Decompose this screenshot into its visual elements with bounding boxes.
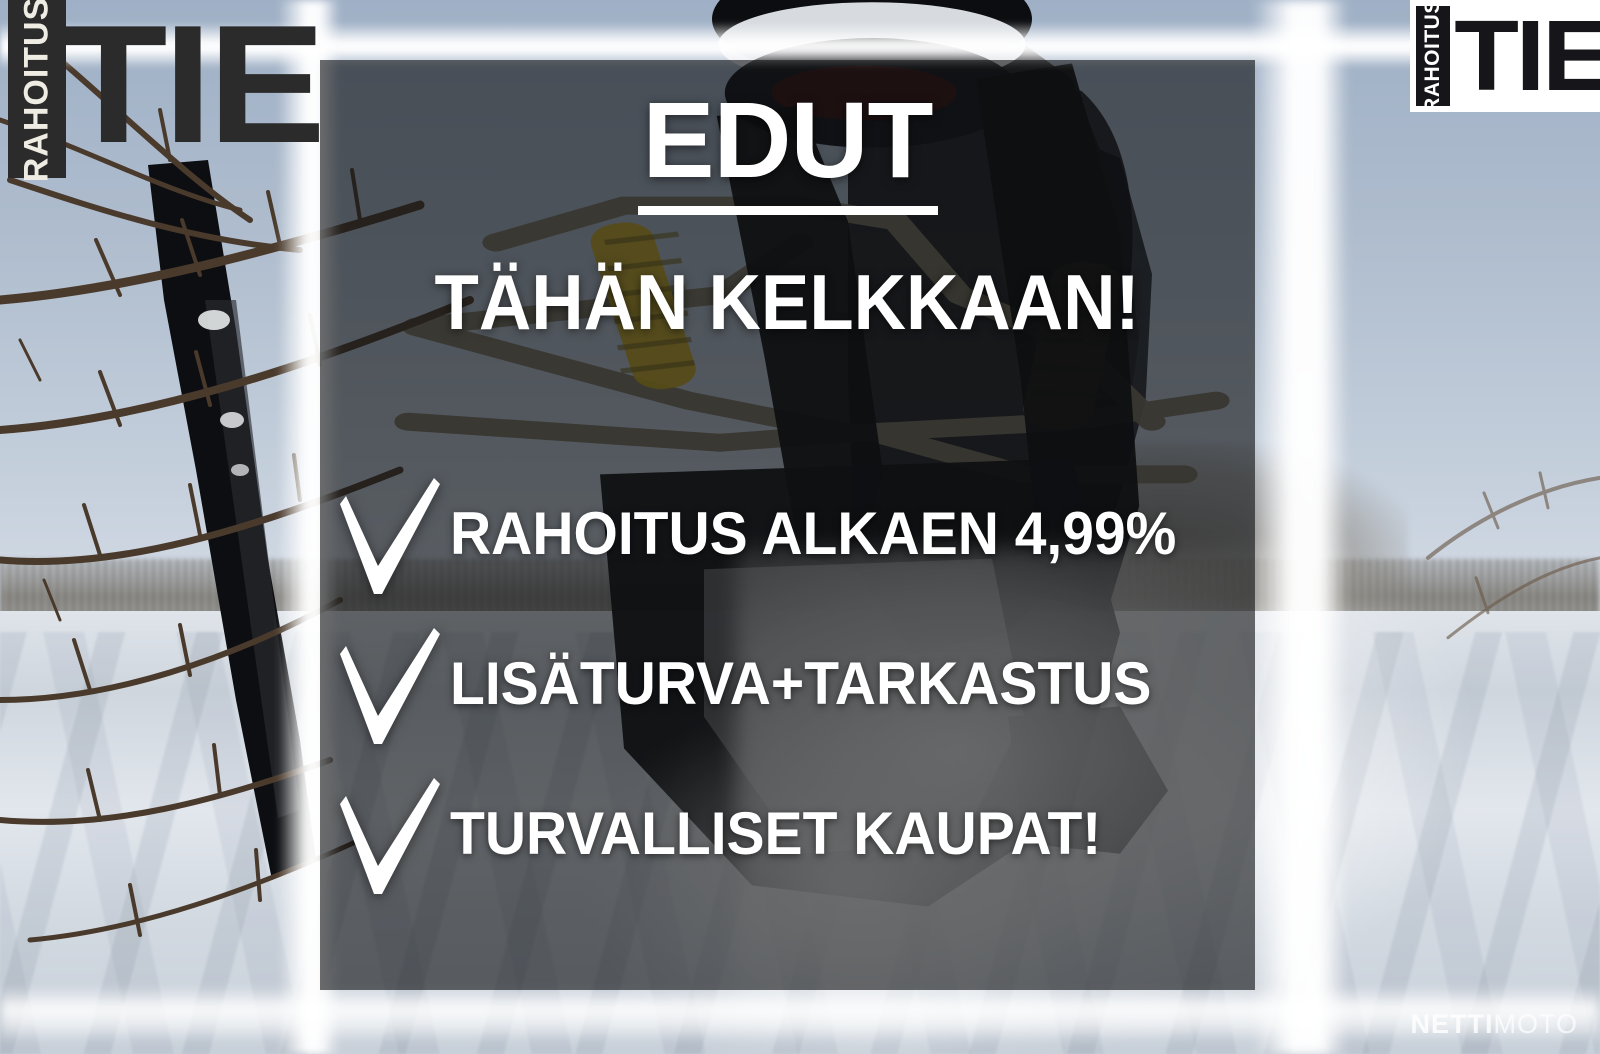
rahoitustie-logo-top-right: RAHOITUS TIE bbox=[1410, 0, 1600, 112]
frame-glow-right bbox=[1252, 0, 1348, 1054]
list-item: TURVALLISET KAUPAT! bbox=[336, 759, 1255, 909]
logo-main-word: TIE bbox=[60, 0, 322, 178]
check-icon bbox=[336, 470, 444, 598]
logo-vertical-word: RAHOITUS bbox=[1421, 0, 1445, 113]
watermark-light: MOTO bbox=[1494, 1009, 1579, 1040]
watermark-bold: NETTI bbox=[1411, 1009, 1494, 1040]
logo-vertical-word-block: RAHOITUS bbox=[1416, 6, 1450, 106]
frame-glow-bottom bbox=[0, 986, 1600, 1042]
subtitle: TÄHÄN KELKKAAN! bbox=[435, 263, 1140, 341]
benefit-label: RAHOITUS ALKAEN 4,99% bbox=[450, 504, 1176, 564]
advertisement-image: EDUT TÄHÄN KELKKAAN! RAHOITUS ALKAEN 4,9… bbox=[0, 0, 1600, 1054]
title-underline bbox=[638, 206, 938, 215]
nettimoto-watermark: NETTIMOTO bbox=[1411, 1009, 1579, 1040]
promo-content: EDUT TÄHÄN KELKKAAN! RAHOITUS ALKAEN 4,9… bbox=[320, 60, 1255, 990]
logo-main-word: TIE bbox=[1450, 6, 1600, 106]
list-item: RAHOITUS ALKAEN 4,99% bbox=[336, 459, 1255, 609]
benefits-list: RAHOITUS ALKAEN 4,99% LISÄTURVA+TARKASTU… bbox=[320, 459, 1255, 909]
rahoitustie-logo-top-left: RAHOITUS TIE bbox=[8, 0, 280, 178]
benefit-label: LISÄTURVA+TARKASTUS bbox=[450, 654, 1151, 714]
logo-vertical-word-block: RAHOITUS bbox=[8, 0, 66, 178]
logo-vertical-word: RAHOITUS bbox=[18, 0, 57, 182]
list-item: LISÄTURVA+TARKASTUS bbox=[336, 609, 1255, 759]
check-icon bbox=[336, 620, 444, 748]
benefit-label: TURVALLISET KAUPAT! bbox=[450, 804, 1101, 864]
page-title: EDUT bbox=[643, 86, 933, 194]
check-icon bbox=[336, 770, 444, 898]
